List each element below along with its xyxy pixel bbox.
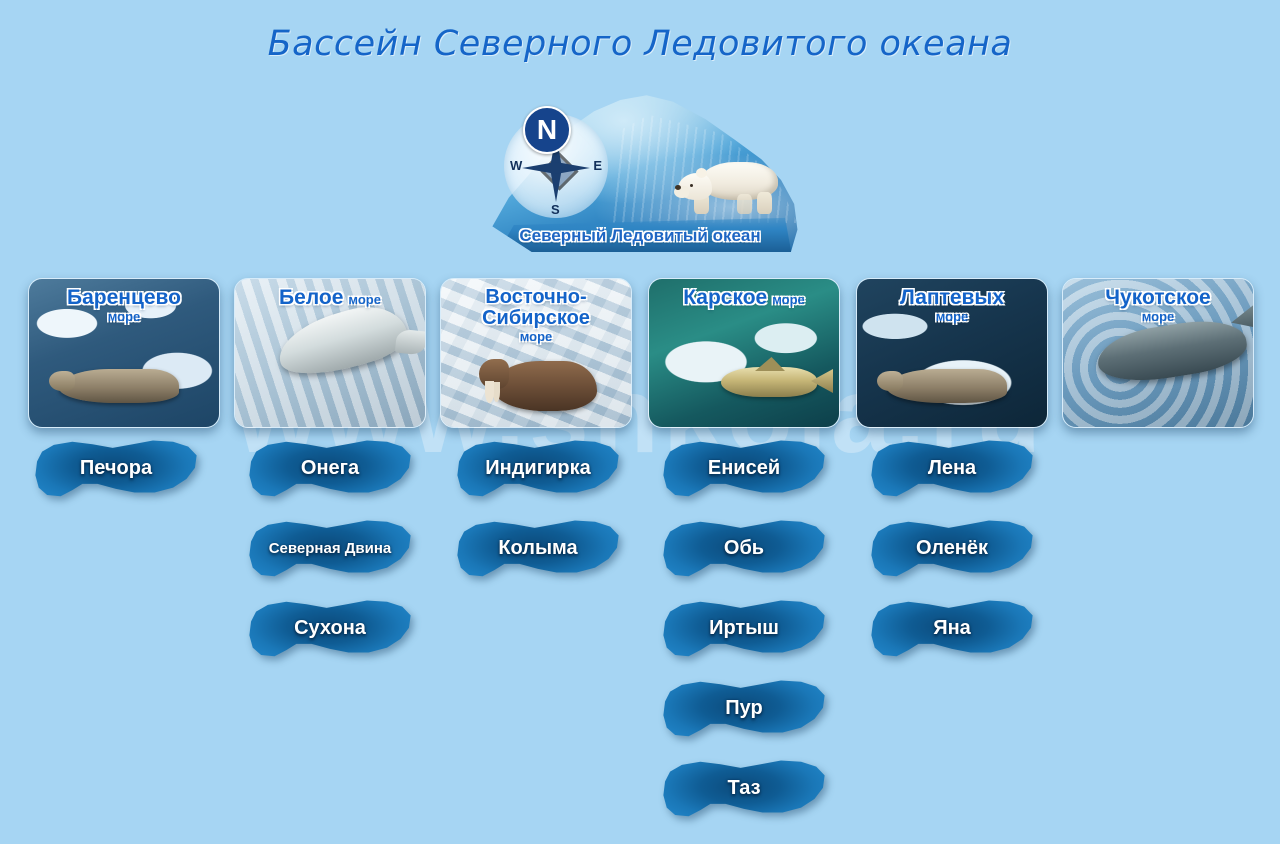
sea-name: Лаптевых <box>900 286 1004 309</box>
compass-south-label: S <box>551 202 560 217</box>
page-title: Бассейн Северного Ледовитого океана <box>0 24 1280 64</box>
river-blob[interactable]: Оленёк <box>868 518 1036 580</box>
sea-suffix: море <box>772 292 805 307</box>
river-blob[interactable]: Колыма <box>454 518 622 580</box>
sea-card-5[interactable]: Лаптевыхморе <box>856 278 1048 428</box>
river-label: Яна <box>868 598 1036 660</box>
ocean-badge[interactable]: N W E S Северный Ледовитый океан <box>476 92 804 252</box>
sea-title: Баренцевоморе <box>29 287 219 323</box>
beluga-illustration <box>272 296 412 386</box>
river-blob[interactable]: Лена <box>868 438 1036 500</box>
compass-west-label: W <box>510 158 522 173</box>
sea-name: Чукотское <box>1105 286 1210 309</box>
river-blob[interactable]: Онега <box>246 438 414 500</box>
seal-illustration <box>887 369 1007 403</box>
river-label: Иртыш <box>660 598 828 660</box>
sea-name: Карское <box>683 286 767 309</box>
sea-card-4[interactable]: Карскоеморе <box>648 278 840 428</box>
sea-title: Карскоеморе <box>649 287 839 309</box>
sea-title: Лаптевыхморе <box>857 287 1047 323</box>
compass-rose-icon: N W E S <box>504 114 608 218</box>
river-blob[interactable]: Енисей <box>660 438 828 500</box>
river-label: Печора <box>32 438 200 500</box>
walrus-illustration <box>493 361 597 411</box>
sea-suffix: море <box>348 292 381 307</box>
sea-name: Восточно- Сибирское <box>482 286 590 329</box>
sea-suffix: море <box>1063 310 1253 324</box>
river-blob[interactable]: Печора <box>32 438 200 500</box>
fish-illustration <box>721 367 817 397</box>
infographic-canvas: www.shkola.ru Бассейн Северного Ледовито… <box>0 0 1280 844</box>
river-label: Онега <box>246 438 414 500</box>
river-blob[interactable]: Сухона <box>246 598 414 660</box>
river-blob[interactable]: Обь <box>660 518 828 580</box>
river-blob[interactable]: Северная Двина <box>246 518 414 580</box>
river-label: Колыма <box>454 518 622 580</box>
sea-card-2[interactable]: Белоеморе <box>234 278 426 428</box>
river-label: Лена <box>868 438 1036 500</box>
river-label: Оленёк <box>868 518 1036 580</box>
sea-card-6[interactable]: Чукотскоеморе <box>1062 278 1254 428</box>
river-label: Енисей <box>660 438 828 500</box>
sea-card-1[interactable]: Баренцевоморе <box>28 278 220 428</box>
river-label: Северная Двина <box>246 518 414 580</box>
bear-leg <box>737 194 752 214</box>
seal-illustration <box>59 369 179 403</box>
bear-nose <box>675 185 681 190</box>
sea-title: Восточно- Сибирскоеморе <box>441 287 631 343</box>
sea-suffix: море <box>441 330 631 344</box>
polar-bear-illustration <box>678 150 782 214</box>
sea-suffix: море <box>857 310 1047 324</box>
sea-card-3[interactable]: Восточно- Сибирскоеморе <box>440 278 632 428</box>
bear-eye <box>690 184 693 187</box>
river-label: Индигирка <box>454 438 622 500</box>
whale-illustration <box>1094 314 1250 389</box>
sea-name: Баренцево <box>67 286 181 309</box>
sea-suffix: море <box>29 310 219 324</box>
compass-north-badge: N <box>523 106 571 154</box>
sea-title: Белоеморе <box>235 287 425 309</box>
bear-ear <box>696 168 707 178</box>
bear-leg <box>757 192 772 214</box>
river-label: Пур <box>660 678 828 740</box>
sea-name: Белое <box>279 286 343 309</box>
river-blob[interactable]: Таз <box>660 758 828 820</box>
compass-east-label: E <box>593 158 602 173</box>
sea-title: Чукотскоеморе <box>1063 287 1253 323</box>
ocean-caption: Северный Ледовитый океан <box>476 226 804 246</box>
river-label: Обь <box>660 518 828 580</box>
river-blob[interactable]: Пур <box>660 678 828 740</box>
river-label: Таз <box>660 758 828 820</box>
river-blob[interactable]: Индигирка <box>454 438 622 500</box>
river-blob[interactable]: Иртыш <box>660 598 828 660</box>
river-label: Сухона <box>246 598 414 660</box>
river-blob[interactable]: Яна <box>868 598 1036 660</box>
